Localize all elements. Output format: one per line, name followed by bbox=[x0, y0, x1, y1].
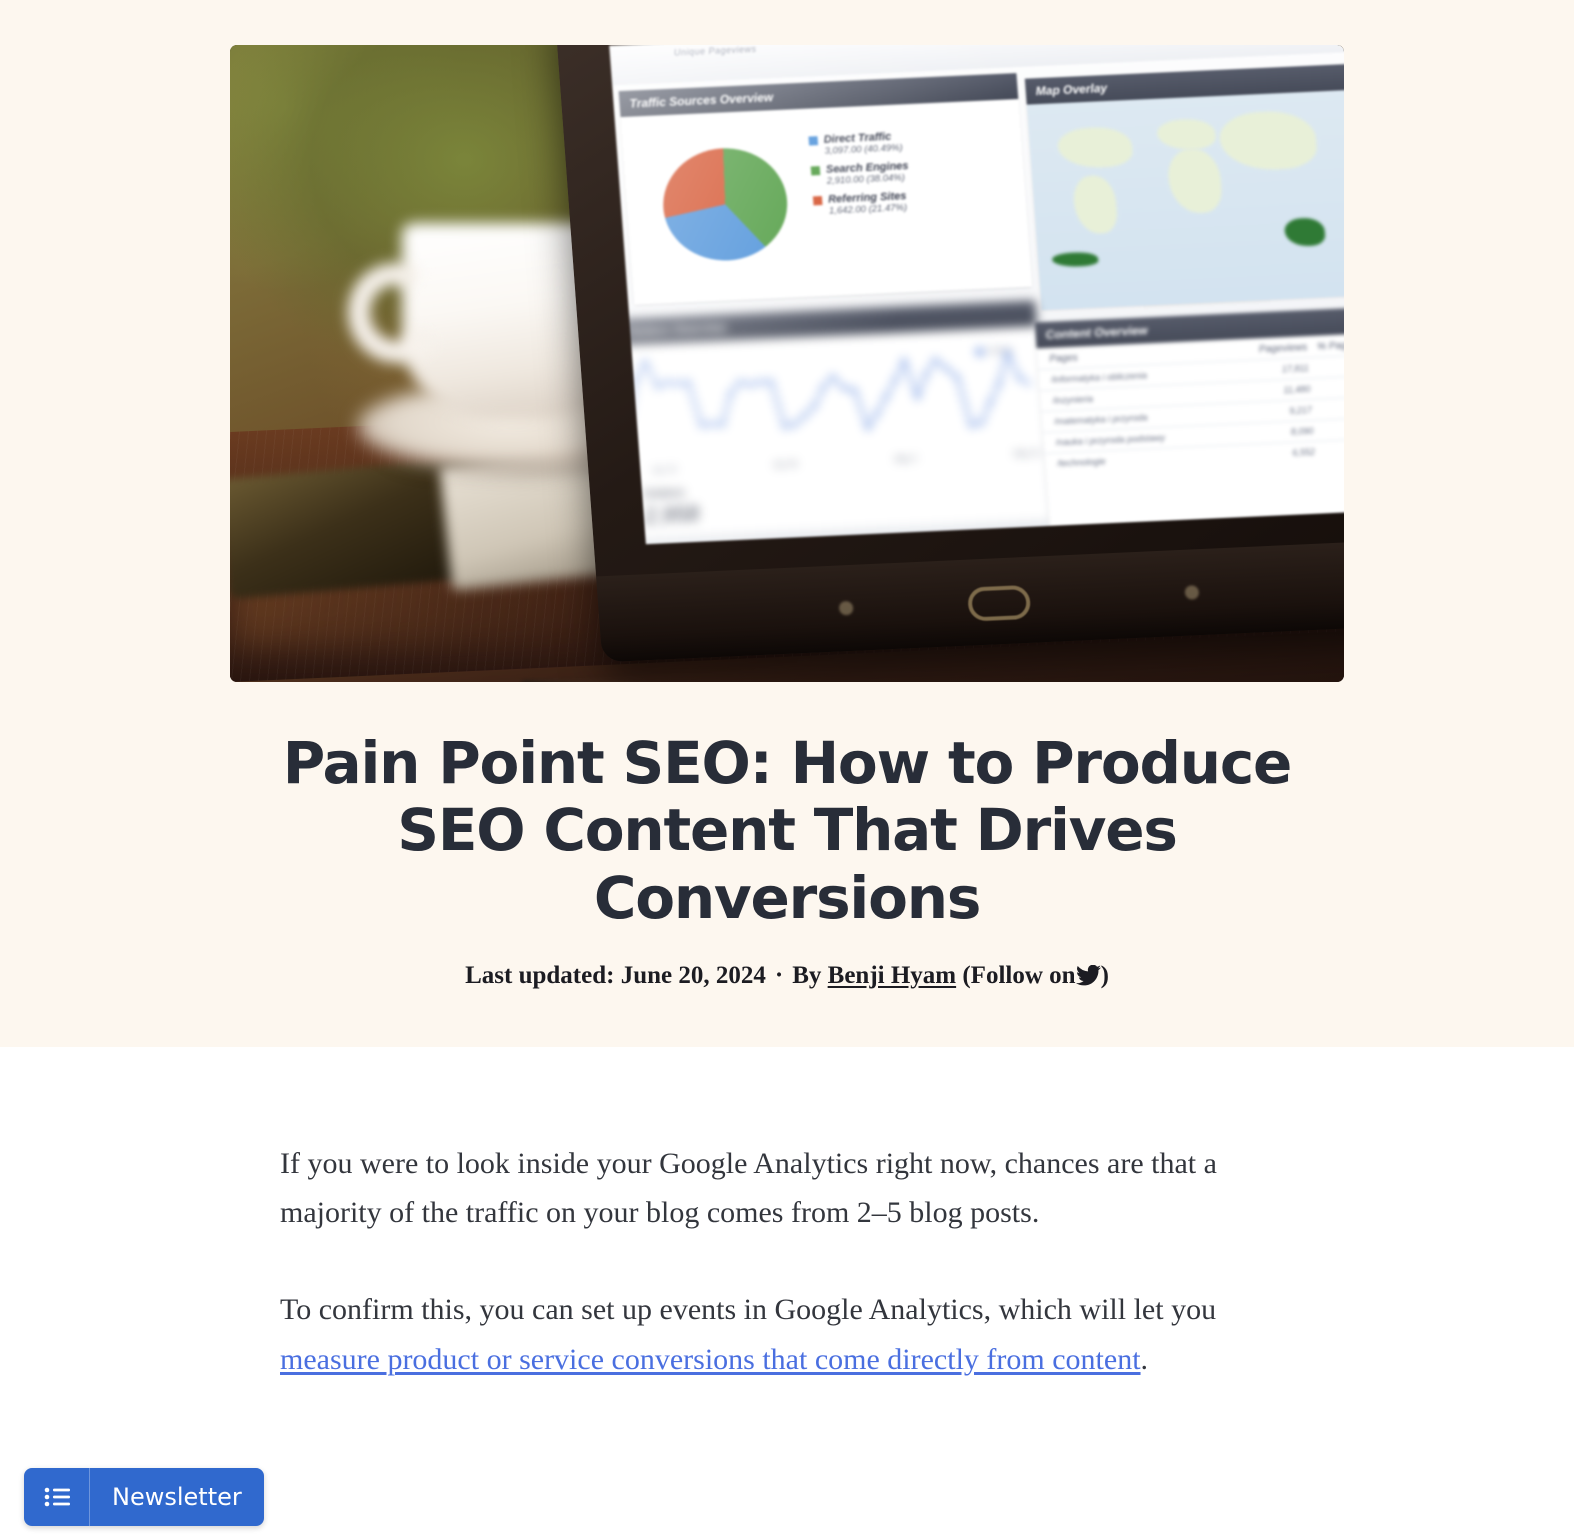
paragraph-2: To confirm this, you can set up events i… bbox=[280, 1285, 1294, 1383]
visitors-chart-area: Visitors Apr 19 Apr 26 May 3 May 10 Visi… bbox=[617, 326, 1051, 539]
visitors-line-chart bbox=[624, 341, 1035, 463]
landmass-europe bbox=[1156, 118, 1216, 151]
panel-traffic-sources: Traffic Sources Overview Direct Traffic … bbox=[619, 73, 1032, 304]
cell-pageviews: 9,217 bbox=[1234, 405, 1313, 419]
legend-value-referring-sites: 1,642.00 (21.47%) bbox=[829, 202, 912, 217]
top-strip-left-text: Unique Pageviews bbox=[674, 45, 757, 58]
cell-pct: 9.68% bbox=[1313, 423, 1344, 436]
cell-pct: 13.7% bbox=[1310, 381, 1344, 394]
follow-suffix: ) bbox=[1101, 962, 1109, 989]
newsletter-label[interactable]: Newsletter bbox=[90, 1468, 264, 1526]
cell-pageviews: 6,552 bbox=[1237, 447, 1316, 461]
article-body: If you were to look inside your Google A… bbox=[280, 1047, 1294, 1384]
list-icon[interactable] bbox=[24, 1468, 90, 1526]
x-tick: May 10 bbox=[1014, 448, 1041, 458]
legend-swatch-direct-traffic bbox=[808, 136, 818, 145]
legend-value-direct-traffic: 3,097.00 (40.49%) bbox=[824, 142, 907, 157]
traffic-sources-pie-chart bbox=[654, 140, 796, 269]
landmass-australia bbox=[1284, 217, 1326, 247]
landmass-antarctica bbox=[1052, 252, 1099, 268]
legend-swatch-referring-sites bbox=[813, 196, 823, 205]
cell-pct: 21.3% bbox=[1308, 360, 1344, 373]
cell-pct: 11.0% bbox=[1311, 402, 1344, 415]
newsletter-widget[interactable]: Newsletter bbox=[24, 1468, 264, 1526]
landmass-asia bbox=[1218, 110, 1318, 172]
by-label: By bbox=[792, 962, 821, 989]
column-header-pageviews: Pageviews bbox=[1229, 342, 1308, 357]
content-overview-table: Pages Pageviews % Pageviews /informatyka… bbox=[1037, 332, 1344, 529]
legend-item: Search Engines 2,910.00 (38.04%) bbox=[811, 160, 910, 187]
last-updated-text: Last updated: June 20, 2024 bbox=[465, 962, 766, 989]
legend-swatch-search-engines bbox=[811, 166, 821, 175]
legend-value-search-engines: 2,910.00 (38.04%) bbox=[826, 172, 909, 187]
landmass-south-america bbox=[1072, 175, 1118, 235]
paragraph-1: If you were to look inside your Google A… bbox=[280, 1139, 1294, 1237]
tablet-device: Unique Pageviews 28.36% · New Visits Tra… bbox=[554, 45, 1344, 662]
cell-pct: 7.84% bbox=[1315, 444, 1344, 457]
page-title: Pain Point SEO: How to Produce SEO Conte… bbox=[282, 730, 1292, 932]
x-tick: May 3 bbox=[894, 454, 916, 464]
landmass-africa bbox=[1166, 148, 1223, 214]
visitors-metric-label: Visitors bbox=[642, 484, 698, 501]
tablet-home-button bbox=[967, 585, 1031, 622]
cell-pageviews: 8,090 bbox=[1235, 426, 1314, 440]
inline-link-measure-conversions[interactable]: measure product or service conversions t… bbox=[280, 1343, 1141, 1376]
cell-pageviews: 17,811 bbox=[1230, 363, 1309, 377]
panel-content-overview: Content Overview Pages Pageviews % Pagev… bbox=[1035, 306, 1344, 529]
legend-item: Referring Sites 1,642.00 (21.47%) bbox=[813, 190, 912, 217]
author-link[interactable]: Benji Hyam bbox=[828, 962, 956, 989]
hero-section: Unique Pageviews 28.36% · New Visits Tra… bbox=[0, 0, 1574, 1047]
paragraph-2-after: . bbox=[1141, 1343, 1149, 1376]
visitors-metric-value: 2,958 bbox=[643, 501, 700, 529]
bezel-sensor-left-icon bbox=[839, 601, 854, 616]
visitors-metric: Visitors 2,958 bbox=[642, 484, 700, 529]
landmass-north-america bbox=[1057, 126, 1134, 169]
cell-pageviews: 11,480 bbox=[1232, 384, 1311, 398]
cell-page: /technologie bbox=[1057, 450, 1238, 468]
byline-separator: · bbox=[775, 962, 783, 989]
traffic-sources-legend: Direct Traffic 3,097.00 (40.49%) Search … bbox=[808, 130, 912, 224]
column-header-pct-pageviews: % Pageviews bbox=[1307, 339, 1344, 353]
x-tick: Apr 26 bbox=[773, 459, 797, 469]
panel-visitors-overview: Visitors Overview Visitors Apr 19 Apr 26… bbox=[615, 300, 1051, 538]
hero-image: Unique Pageviews 28.36% · New Visits Tra… bbox=[230, 45, 1344, 682]
paragraph-2-before: To confirm this, you can set up events i… bbox=[280, 1293, 1216, 1326]
bezel-sensor-right-icon bbox=[1184, 585, 1199, 600]
twitter-bird-icon[interactable] bbox=[1076, 962, 1101, 989]
follow-prefix: (Follow on bbox=[962, 962, 1075, 989]
byline: Last updated: June 20, 2024·By Benji Hya… bbox=[0, 962, 1574, 990]
panel-map-overlay: Map Overlay bbox=[1025, 64, 1344, 310]
analytics-dashboard: Unique Pageviews 28.36% · New Visits Tra… bbox=[609, 45, 1344, 544]
world-map-graphic bbox=[1027, 90, 1344, 310]
legend-item: Direct Traffic 3,097.00 (40.49%) bbox=[808, 130, 907, 157]
x-tick: Apr 19 bbox=[652, 465, 676, 475]
